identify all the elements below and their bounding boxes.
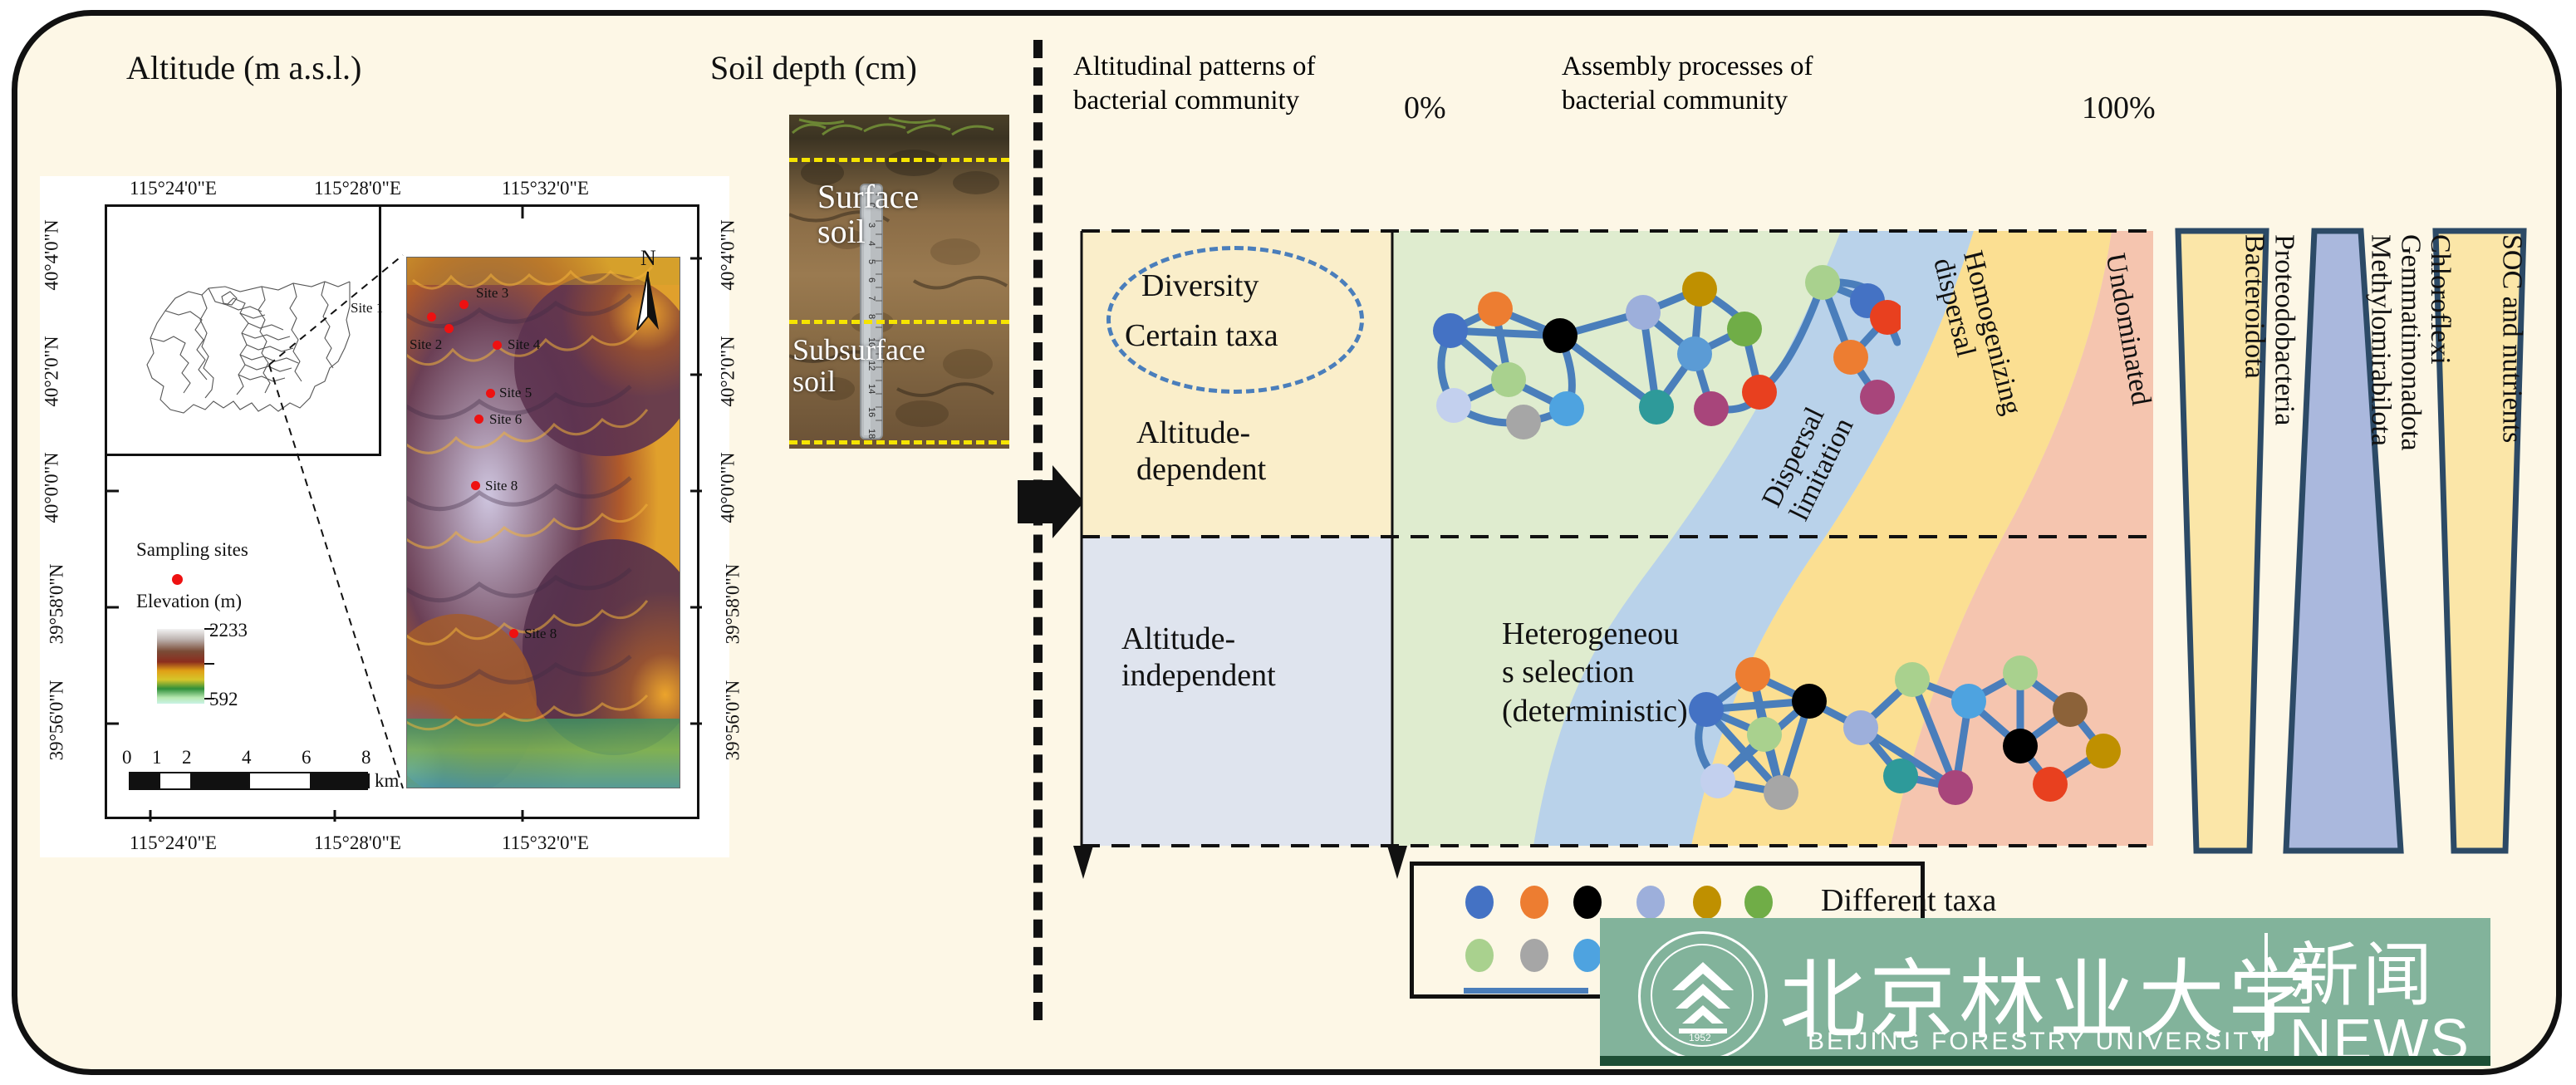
assembly-processes-title: Assembly processes of bacterial communit… [1562, 50, 1813, 119]
taxa-swatch-1 [1465, 886, 1494, 919]
svg-text:16: 16 [866, 407, 876, 417]
svg-text:8: 8 [866, 314, 876, 319]
university-seal: 1952 [1638, 931, 1768, 1061]
lon-tick-b0: 115°24'0"E [130, 832, 217, 854]
seal-year: 1952 [1689, 1032, 1711, 1043]
soil-depth-title: Soil depth (cm) [710, 48, 917, 87]
altitude-dependent-label: Altitude- dependent [1136, 415, 1266, 488]
scale-tick-1: 1 [152, 747, 162, 768]
subsurface-soil-label: Subsurface soil [792, 335, 925, 398]
china-provinces-outline [115, 232, 365, 439]
scale-tick-4: 6 [302, 747, 312, 768]
watermark-cn-news: 新闻 [2289, 920, 2436, 1020]
svg-text:7: 7 [866, 296, 876, 301]
scale-tick-2: 2 [182, 747, 192, 768]
site-dot-3 [459, 300, 469, 309]
network-top [1402, 243, 1901, 442]
china-inset-map [107, 207, 381, 456]
site-dot-1 [427, 312, 436, 322]
left-axis-arrow [1070, 846, 1100, 881]
svg-text:5: 5 [866, 259, 876, 264]
taxa-swatch-5 [1693, 886, 1721, 919]
sampling-sites-label: Sampling sites [136, 539, 248, 561]
altitude-title: Altitude (m a.s.l.) [126, 48, 361, 87]
soil-boundary-top [789, 158, 1009, 162]
map-legend: Sampling sites Elevation (m) [128, 539, 377, 747]
taxa-swatch-8 [1520, 939, 1548, 972]
trapezoid-2-label: Chloroflexi Gemmatimonadota Methylomirab… [2366, 234, 2455, 451]
site-label-2: Site 2 [410, 336, 442, 353]
watermark-banner: 1952 北京林业大学 BEIJING FORESTRY UNIVERSITY … [1600, 918, 2490, 1066]
scale-tick-3: 4 [242, 747, 252, 768]
diversity-label: Diversity [1141, 268, 1259, 304]
site-dot-2 [444, 324, 454, 333]
watermark-bottom-bar [1600, 1056, 2490, 1066]
assembly-schematic: Diversity Certain taxa Altitude- depende… [1082, 231, 2153, 854]
certain-taxa-label: Certain taxa [1125, 317, 1278, 354]
svg-text:6: 6 [866, 277, 876, 282]
lat-tick-r0: 40°4'0"N [718, 219, 739, 290]
site-label-5: Site 5 [499, 385, 532, 401]
altitude-independent-label: Altitude- independent [1121, 621, 1276, 694]
site-label-8: Site 8 [524, 626, 557, 642]
scalebar-body [129, 772, 368, 790]
lat-tick-l3: 39°58'0"N [46, 564, 67, 645]
north-arrow-icon: N [622, 247, 674, 338]
different-taxa-label: Different taxa [1821, 882, 1996, 919]
figure-canvas: Altitude (m a.s.l.) Soil depth (cm) Alti… [0, 0, 2576, 1085]
soil-boundary-bottom [789, 440, 1009, 444]
taxa-swatch-2 [1520, 886, 1548, 919]
heterogeneous-selection-label: Heterogeneou s selection (deterministic) [1502, 615, 1688, 730]
elevation-label: Elevation (m) [136, 591, 242, 612]
trapezoid-3-label: SOC and nutrients [2497, 234, 2527, 443]
altitudinal-patterns-title: Altitudinal patterns of bacterial commun… [1073, 50, 1315, 119]
trapezoid-1-label: Proteodobacteria Bacteroidota [2240, 234, 2299, 425]
site-label-7: Site 8 [485, 478, 518, 494]
site-dot-5 [486, 389, 495, 398]
site-label-6: Site 6 [489, 411, 522, 428]
lon-tick-0: 115°24'0"E [130, 178, 217, 199]
soil-photo-svg: 0 3 4 5 6 7 8 10 12 14 16 18 [789, 115, 1009, 449]
seal-emblem-icon [1664, 954, 1742, 1040]
site-label-4: Site 4 [508, 336, 540, 353]
lat-tick-r4: 39°56'0"N [722, 680, 743, 761]
watermark-en-name: BEIJING FORESTRY UNIVERSITY [1808, 1028, 2270, 1056]
taxa-swatch-4 [1636, 886, 1665, 919]
lat-tick-l4: 39°56'0"N [46, 680, 67, 761]
legend-site-dot [172, 574, 183, 585]
taxa-swatch-3 [1573, 886, 1602, 919]
surface-soil-label: Surface soil [817, 179, 919, 249]
scale-tick-5: 8 [361, 747, 371, 768]
lon-tick-2: 115°32'0"E [502, 178, 589, 199]
svg-text:18: 18 [866, 429, 876, 439]
axis-100-percent: 100% [2082, 90, 2156, 126]
taxa-swatch-9 [1573, 939, 1602, 972]
site-dot-4 [493, 341, 502, 350]
site-label-1: Site 1 [351, 300, 383, 317]
scale-tick-0: 0 [122, 747, 132, 768]
axis-0-percent: 0% [1404, 90, 1446, 126]
site-dot-8 [509, 629, 518, 638]
lat-tick-r1: 40°2'0"N [718, 336, 739, 406]
elevation-colorbar [157, 629, 204, 704]
colorbar-ticks [204, 626, 216, 709]
lat-tick-r3: 39°58'0"N [722, 564, 743, 645]
map-frame: Site 1 Site 2 Site 3 Site 4 Site 5 Site … [105, 204, 699, 819]
flow-arrow-icon [1018, 465, 1084, 538]
lat-tick-r2: 40°0'0"N [718, 452, 739, 523]
network-bottom [1663, 621, 2145, 829]
site-dot-6 [474, 415, 483, 424]
lat-tick-l2: 40°0'0"N [42, 452, 63, 523]
lon-tick-1: 115°28'0"E [314, 178, 401, 199]
taxa-interaction-line [1464, 988, 1588, 994]
lat-tick-l0: 40°4'0"N [42, 219, 63, 290]
svg-text:N: N [640, 247, 656, 270]
scale-unit: km [375, 770, 399, 792]
taxa-swatch-7 [1465, 939, 1494, 972]
study-area-map: 115°24'0"E 115°28'0"E 115°32'0"E 115°24'… [40, 176, 729, 857]
lon-tick-b2: 115°32'0"E [502, 832, 589, 854]
taxa-swatch-6 [1744, 886, 1773, 919]
lat-tick-l1: 40°2'0"N [42, 336, 63, 406]
soil-profile-photo: 0 3 4 5 6 7 8 10 12 14 16 18 [789, 115, 1009, 449]
site-label-3: Site 3 [476, 285, 508, 302]
site-dot-7 [471, 481, 480, 490]
trapezoid-group [2173, 226, 2547, 857]
watermark-separator [2264, 933, 2268, 1051]
lon-tick-b1: 115°28'0"E [314, 832, 401, 854]
soil-boundary-mid [789, 320, 1009, 324]
